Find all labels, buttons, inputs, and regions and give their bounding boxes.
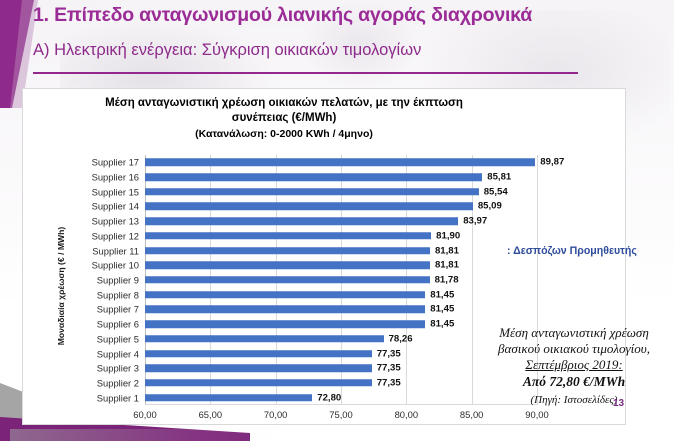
chart-category-label: Supplier 11 bbox=[92, 245, 139, 256]
chart-bar-row: Supplier 1485,09 bbox=[145, 199, 537, 214]
chart-container: Μέση ανταγωνιστική χρέωση οικιακών πελατ… bbox=[22, 88, 626, 425]
chart-bar bbox=[145, 379, 372, 387]
chart-bar-row: Supplier 1281,90 bbox=[145, 229, 537, 244]
chart-category-label: Supplier 1 bbox=[97, 392, 139, 403]
chart-bar-row: Supplier 1081,81 bbox=[145, 258, 537, 273]
chart-bar bbox=[145, 217, 458, 225]
slide-heading-secondary: Α) Ηλεκτρική ενέργεια: Σύγκριση οικιακών… bbox=[33, 41, 421, 60]
x-axis-tick: 80,00 bbox=[395, 409, 418, 420]
chart-category-label: Supplier 5 bbox=[97, 333, 139, 344]
chart-value-label: 77,35 bbox=[377, 348, 401, 359]
annotation-line-4: Από 72,80 €/MWh bbox=[455, 374, 674, 390]
chart-value-label: 81,45 bbox=[430, 319, 454, 330]
chart-bar bbox=[145, 173, 482, 181]
chart-title-line-1: Μέση ανταγωνιστική χρέωση οικιακών πελατ… bbox=[105, 97, 410, 109]
chart-bar bbox=[145, 291, 425, 299]
x-axis-tick: 65,00 bbox=[199, 409, 222, 420]
chart-category-label: Supplier 16 bbox=[92, 172, 139, 183]
chart-bar-row: Supplier 981,78 bbox=[145, 273, 537, 288]
chart-value-label: 78,26 bbox=[389, 333, 413, 344]
annotation-source: (Πηγή: Ιστοσελίδες) bbox=[455, 392, 674, 408]
chart-category-label: Supplier 7 bbox=[97, 304, 139, 315]
chart-value-label: 77,35 bbox=[377, 377, 401, 388]
heading-divider bbox=[33, 72, 578, 74]
chart-category-label: Supplier 13 bbox=[92, 216, 139, 227]
chart-value-label: 81,45 bbox=[430, 289, 454, 300]
chart-bar bbox=[145, 188, 479, 196]
chart-category-label: Supplier 6 bbox=[97, 319, 139, 330]
chart-category-label: Supplier 9 bbox=[97, 274, 139, 285]
x-axis-tick: 70,00 bbox=[264, 409, 287, 420]
x-axis-tick: 85,00 bbox=[460, 409, 483, 420]
chart-bar bbox=[145, 247, 430, 255]
chart-bar bbox=[145, 232, 431, 240]
chart-bar-row: Supplier 1789,87 bbox=[145, 155, 537, 170]
chart-bar-row: Supplier 1383,97 bbox=[145, 214, 537, 229]
x-axis-tick: 60,00 bbox=[133, 409, 156, 420]
chart-bar-row: Supplier 781,45 bbox=[145, 302, 537, 317]
chart-title: Μέση ανταγωνιστική χρέωση οικιακών πελατ… bbox=[79, 96, 489, 142]
chart-category-label: Supplier 10 bbox=[92, 260, 139, 271]
chart-category-label: Supplier 17 bbox=[92, 157, 139, 168]
chart-category-label: Supplier 8 bbox=[97, 289, 139, 300]
chart-category-label: Supplier 12 bbox=[92, 230, 139, 241]
slide-root: 1. Επίπεδο ανταγωνισμού λιανικής αγοράς … bbox=[0, 0, 674, 441]
chart-bar bbox=[145, 203, 473, 211]
slide-heading-primary: 1. Επίπεδο ανταγωνισμού λιανικής αγοράς … bbox=[33, 4, 532, 27]
chart-bar bbox=[145, 335, 384, 343]
chart-value-label: 81,81 bbox=[435, 260, 459, 271]
chart-bar bbox=[145, 306, 425, 314]
chart-bar bbox=[145, 276, 430, 284]
side-annotation-block: Μέση ανταγωνιστική χρέωση βασικού οικιακ… bbox=[455, 325, 674, 408]
x-axis-tick-labels: 60,0065,0070,0075,0080,0085,0090,00 bbox=[145, 409, 537, 425]
annotation-line-3: Σεπτέμβριος 2019: bbox=[455, 357, 674, 373]
chart-value-label: 72,80 bbox=[317, 392, 341, 403]
chart-value-label: 81,90 bbox=[436, 230, 460, 241]
chart-category-label: Supplier 15 bbox=[92, 186, 139, 197]
page-number: 13 bbox=[613, 398, 624, 409]
annotation-line-1: Μέση ανταγωνιστική χρέωση bbox=[455, 325, 674, 341]
chart-bar-row: Supplier 881,45 bbox=[145, 287, 537, 302]
chart-value-label: 77,35 bbox=[377, 363, 401, 374]
annotation-line-2: βασικού οικιακού τιμολογίου, bbox=[455, 341, 674, 357]
chart-value-label: 85,54 bbox=[484, 186, 508, 197]
chart-category-label: Supplier 4 bbox=[97, 348, 139, 359]
chart-category-label: Supplier 14 bbox=[92, 201, 139, 212]
chart-value-label: 81,78 bbox=[435, 274, 459, 285]
x-axis-tick: 90,00 bbox=[525, 409, 548, 420]
chart-bar bbox=[145, 320, 425, 328]
gray-accent-bottom-strip bbox=[10, 429, 674, 441]
chart-category-label: Supplier 2 bbox=[97, 377, 139, 388]
chart-value-label: 81,81 bbox=[435, 245, 459, 256]
chart-value-label: 85,09 bbox=[478, 201, 502, 212]
chart-bar bbox=[145, 394, 312, 402]
chart-value-label: 81,45 bbox=[430, 304, 454, 315]
dominant-supplier-note: : Δεσπόζων Προμηθευτής bbox=[507, 245, 637, 257]
chart-bar-row: Supplier 1585,54 bbox=[145, 184, 537, 199]
chart-value-label: 89,87 bbox=[540, 157, 564, 168]
chart-subtitle: (Κατανάλωση: 0-2000 KWh / 4μηνο) bbox=[79, 127, 489, 142]
chart-bar bbox=[145, 350, 372, 358]
y-axis-title: Μοναδιαία χρέωση (€ / MWh) bbox=[56, 186, 66, 386]
chart-bar bbox=[145, 159, 535, 167]
chart-bar-row: Supplier 1181,81 bbox=[145, 243, 537, 258]
chart-value-label: 85,81 bbox=[487, 172, 511, 183]
chart-bar bbox=[145, 262, 430, 270]
chart-bar-row: Supplier 1685,81 bbox=[145, 170, 537, 185]
chart-value-label: 83,97 bbox=[463, 216, 487, 227]
x-axis-tick: 75,00 bbox=[329, 409, 352, 420]
chart-bar bbox=[145, 364, 372, 372]
chart-category-label: Supplier 3 bbox=[97, 363, 139, 374]
